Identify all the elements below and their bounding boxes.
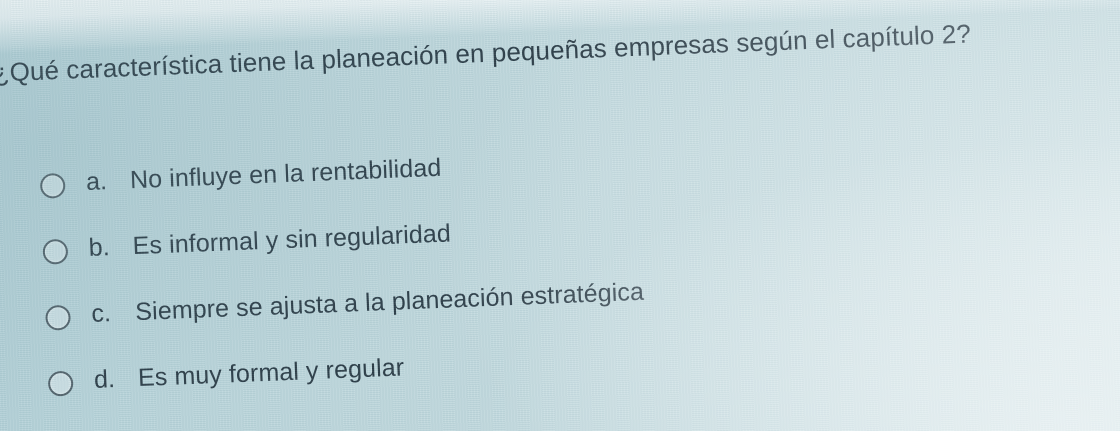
radio-button-b-icon[interactable] bbox=[42, 239, 68, 265]
photographed-screen: ¿Qué característica tiene la planeación … bbox=[0, 0, 1120, 431]
radio-button-a-icon[interactable] bbox=[40, 173, 66, 199]
radio-button-c-icon[interactable] bbox=[45, 305, 71, 331]
answer-options-list: a. No influye en la rentabilidad b. Es i… bbox=[0, 128, 1067, 431]
radio-button-d-icon[interactable] bbox=[48, 371, 74, 397]
answer-letter-c: c. bbox=[91, 297, 136, 329]
answer-letter-d: d. bbox=[93, 363, 138, 395]
answer-letter-b: b. bbox=[88, 231, 133, 263]
page-content-rotor: ¿Qué característica tiene la planeación … bbox=[0, 0, 1120, 431]
answer-letter-a: a. bbox=[85, 165, 130, 197]
answer-text-a[interactable]: No influye en la rentabilidad bbox=[129, 128, 1057, 195]
